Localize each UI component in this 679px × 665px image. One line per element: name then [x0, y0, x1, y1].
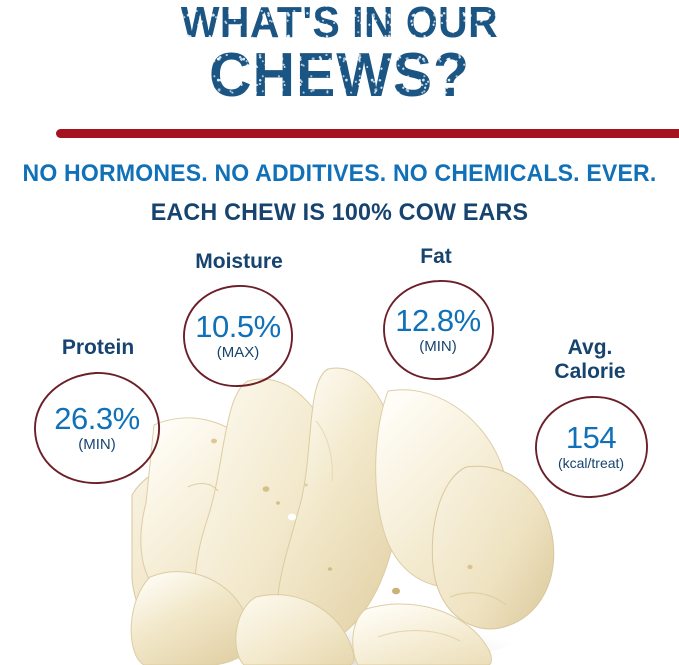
stat-circle-protein: 26.3% (MIN)	[32, 370, 162, 486]
stat-badge-protein: Protein 26.3% (MIN)	[18, 336, 178, 486]
stat-badge-fat: Fat 12.8% (MIN)	[368, 245, 504, 391]
infographic-page: WHAT'S IN OUR CHEWS? NO HORMONES. NO ADD…	[0, 0, 679, 665]
headline-line-1: WHAT'S IN OUR	[24, 0, 655, 46]
product-photo-cow-ear-chews	[120, 365, 560, 665]
headline-line-2-text: CHEWS?	[209, 44, 470, 108]
headline-line-2: CHEWS?	[17, 44, 662, 108]
stat-value-fat: 12.8%	[395, 305, 480, 337]
stat-badge-avg-calorie: Avg. Calorie 154 (kcal/treat)	[515, 336, 665, 501]
stat-unit-avg-calorie: (kcal/treat)	[558, 455, 624, 472]
stat-circle-avg-calorie: 154 (kcal/treat)	[533, 395, 649, 499]
stat-value-protein: 26.3%	[54, 403, 139, 435]
stat-unit-fat: (MIN)	[419, 338, 457, 355]
stat-value-moisture: 10.5%	[195, 311, 280, 343]
stat-value-avg-calorie: 154	[566, 422, 616, 454]
stat-label-moisture: Moisture	[195, 250, 283, 273]
subtitle-no-hormones: NO HORMONES. NO ADDITIVES. NO CHEMICALS.…	[14, 160, 666, 188]
stat-label-avg-calorie-line-1: Avg.	[568, 336, 613, 359]
stat-label-protein: Protein	[62, 336, 134, 359]
stat-circle-moisture: 10.5% (MAX)	[182, 284, 294, 388]
stat-label-avg-calorie-line-2: Calorie	[554, 360, 625, 383]
headline-line-1-text: WHAT'S IN OUR	[181, 0, 498, 46]
red-divider-rule	[56, 129, 679, 138]
stat-unit-moisture: (MAX)	[217, 344, 260, 361]
stat-circle-fat: 12.8% (MIN)	[381, 279, 495, 381]
stat-badge-moisture: Moisture 10.5% (MAX)	[164, 250, 314, 396]
stat-unit-protein: (MIN)	[78, 436, 116, 453]
subtitle-cow-ears: EACH CHEW IS 100% COW EARS	[10, 199, 669, 227]
stat-label-fat: Fat	[420, 245, 452, 268]
